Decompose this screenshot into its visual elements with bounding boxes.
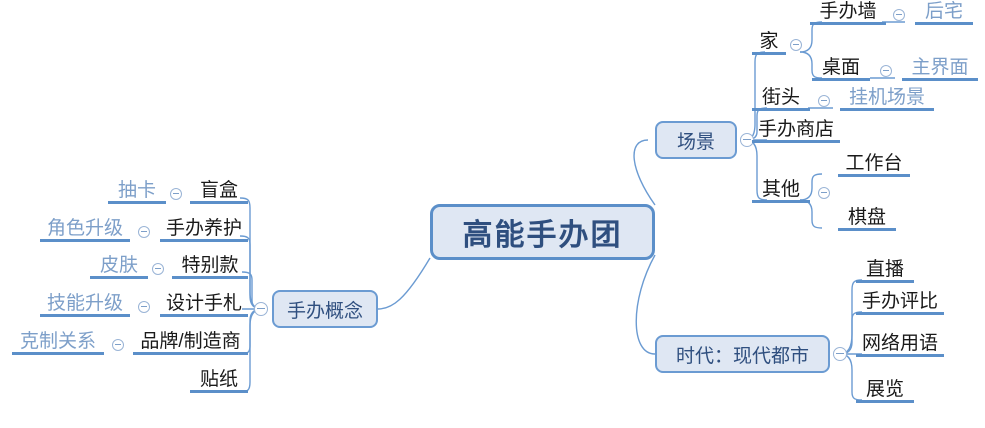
topic-qita[interactable]: 其他 <box>752 180 810 203</box>
topic-underline <box>108 201 166 204</box>
topic-underline <box>856 280 914 283</box>
topic-underline <box>838 228 896 231</box>
topic-label: 克制关系 <box>12 332 104 352</box>
topic-underline <box>915 22 973 25</box>
topic-label: 技能升级 <box>40 294 130 314</box>
branch-node-era[interactable]: 时代：现代都市 <box>655 335 830 373</box>
topic-juese-shengji[interactable]: 角色升级 <box>40 219 130 242</box>
topic-zhujiemian[interactable]: 主界面 <box>902 58 978 81</box>
topic-underline <box>856 312 944 315</box>
topic-zhanlan[interactable]: 展览 <box>856 380 914 403</box>
topic-underline <box>856 354 944 357</box>
topic-pinpai-zhizaoshang[interactable]: 品牌/制造商 <box>133 332 248 355</box>
topic-label: 盲盒 <box>190 181 248 201</box>
branch-node-era-label: 时代：现代都市 <box>676 341 809 368</box>
topic-underline <box>160 239 248 242</box>
collapse-toggle-concept[interactable] <box>254 302 268 316</box>
topic-label: 主界面 <box>902 58 978 78</box>
topic-underline <box>838 174 910 177</box>
topic-sheji-shouzha[interactable]: 设计手札 <box>160 294 248 317</box>
topic-label: 品牌/制造商 <box>133 332 248 352</box>
topic-underline <box>40 314 130 317</box>
topic-label: 工作台 <box>838 154 910 174</box>
topic-underline <box>752 140 840 143</box>
topic-label: 手办评比 <box>856 292 944 312</box>
topic-tebiekuan[interactable]: 特别款 <box>172 256 248 279</box>
topic-guaji-changjing[interactable]: 挂机场景 <box>840 88 934 111</box>
topic-jineng-shengji[interactable]: 技能升级 <box>40 294 130 317</box>
collapse-toggle-shoubanqiang[interactable] <box>893 9 905 21</box>
topic-label: 抽卡 <box>108 181 166 201</box>
topic-underline <box>812 78 870 81</box>
topic-label: 展览 <box>856 380 914 400</box>
collapse-toggle-mangtong[interactable] <box>170 188 182 200</box>
topic-underline <box>12 352 104 355</box>
topic-label: 角色升级 <box>40 219 130 239</box>
topic-label: 街头 <box>752 88 810 108</box>
mindmap-canvas: 高能手办团 手办概念 盲盒 抽卡 手办养护 角色升级 特别款 皮肤 设计手札 技 <box>0 0 985 428</box>
topic-underline <box>90 276 148 279</box>
root-node-label: 高能手办团 <box>463 210 623 254</box>
topic-shoubanqiang[interactable]: 手办墙 <box>810 2 886 25</box>
topic-zhibo[interactable]: 直播 <box>856 260 914 283</box>
topic-houzhai[interactable]: 后宅 <box>915 2 973 25</box>
branch-node-scene-label: 场景 <box>677 127 715 154</box>
collapse-toggle-shouban-yanghu[interactable] <box>138 226 150 238</box>
collapse-toggle-sheji-shouzha[interactable] <box>138 301 150 313</box>
topic-shouban-pingbi[interactable]: 手办评比 <box>856 292 944 315</box>
topic-label: 设计手札 <box>160 294 248 314</box>
topic-label: 手办养护 <box>160 219 248 239</box>
topic-underline <box>190 201 248 204</box>
topic-underline <box>752 52 786 55</box>
topic-label: 直播 <box>856 260 914 280</box>
topic-underline <box>752 200 810 203</box>
topic-label: 其他 <box>752 180 810 200</box>
topic-underline <box>810 22 886 25</box>
topic-label: 手办墙 <box>810 2 886 22</box>
topic-underline <box>856 400 914 403</box>
topic-label: 后宅 <box>915 2 973 22</box>
topic-tiezhi[interactable]: 贴纸 <box>190 370 248 393</box>
topic-gongzuotai[interactable]: 工作台 <box>838 154 910 177</box>
topic-label: 桌面 <box>812 58 870 78</box>
topic-shouban-shangdian[interactable]: 手办商店 <box>752 120 840 143</box>
collapse-toggle-era[interactable] <box>833 347 847 361</box>
topic-underline <box>133 352 248 355</box>
topic-underline <box>190 390 248 393</box>
topic-label: 网络用语 <box>856 334 944 354</box>
topic-label: 棋盘 <box>838 208 896 228</box>
topic-shouban-yanghu[interactable]: 手办养护 <box>160 219 248 242</box>
collapse-toggle-qita[interactable] <box>818 187 830 199</box>
topic-underline <box>40 239 130 242</box>
topic-label: 贴纸 <box>190 370 248 390</box>
topic-label: 特别款 <box>172 256 248 276</box>
branch-node-concept[interactable]: 手办概念 <box>272 290 378 328</box>
topic-underline <box>840 108 934 111</box>
topic-underline <box>902 78 978 81</box>
topic-underline <box>172 276 248 279</box>
topic-jietou[interactable]: 街头 <box>752 88 810 111</box>
root-node[interactable]: 高能手办团 <box>430 204 655 260</box>
topic-underline <box>160 314 248 317</box>
branch-node-scene[interactable]: 场景 <box>655 121 737 159</box>
topic-qipan[interactable]: 棋盘 <box>838 208 896 231</box>
topic-underline <box>752 108 810 111</box>
topic-wangluo-yongyu[interactable]: 网络用语 <box>856 334 944 357</box>
collapse-toggle-tebiekuan[interactable] <box>152 263 164 275</box>
topic-kezhi-guanxi[interactable]: 克制关系 <box>12 332 104 355</box>
collapse-toggle-jia[interactable] <box>790 39 802 51</box>
branch-node-concept-label: 手办概念 <box>287 296 363 323</box>
topic-label: 手办商店 <box>752 120 840 140</box>
topic-label: 家 <box>752 32 786 52</box>
topic-zhuomian[interactable]: 桌面 <box>812 58 870 81</box>
topic-label: 皮肤 <box>90 256 148 276</box>
topic-mangtong[interactable]: 盲盒 <box>190 181 248 204</box>
collapse-toggle-jietou[interactable] <box>818 95 830 107</box>
topic-label: 挂机场景 <box>840 88 934 108</box>
collapse-toggle-zhuomian[interactable] <box>880 65 892 77</box>
topic-jia[interactable]: 家 <box>752 32 786 55</box>
collapse-toggle-pinpai[interactable] <box>112 339 124 351</box>
topic-choka[interactable]: 抽卡 <box>108 181 166 204</box>
topic-pifu[interactable]: 皮肤 <box>90 256 148 279</box>
